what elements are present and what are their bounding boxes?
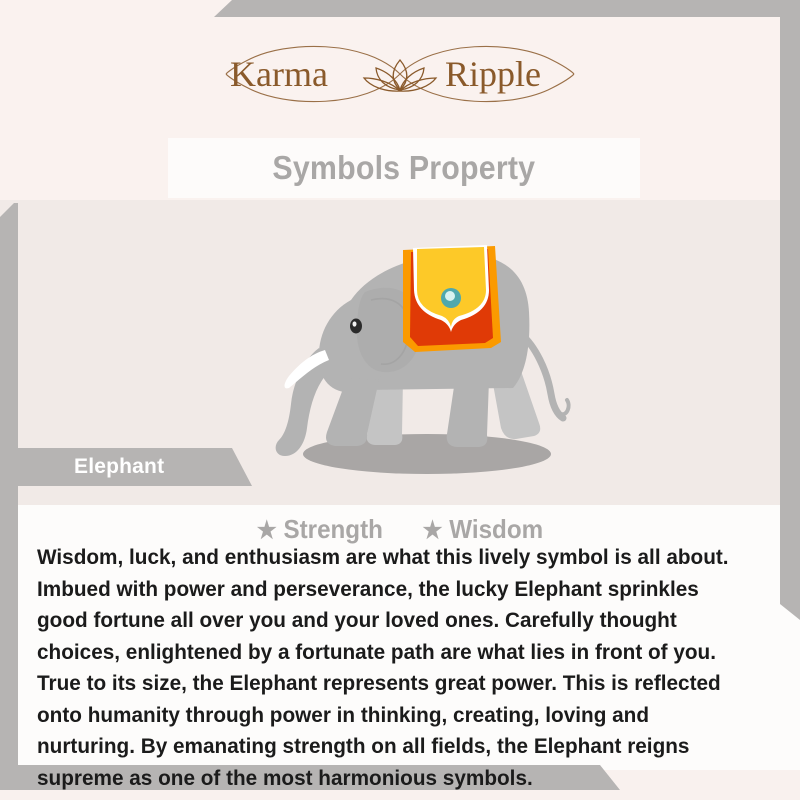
elephant-illustration — [255, 228, 585, 478]
page-title: Symbols Property — [273, 149, 536, 187]
symbol-description: Wisdom, luck, and enthusiasm are what th… — [37, 542, 751, 794]
elephant-eye — [350, 319, 362, 334]
decorative-bar-left — [0, 203, 18, 783]
page-title-band: Symbols Property — [168, 138, 640, 198]
symbol-name-banner: Elephant — [0, 448, 252, 486]
trait-strength-label: Strength — [284, 514, 383, 544]
star-icon: ★ — [257, 517, 277, 544]
symbol-card: Karma Ripple Symbols Property — [0, 0, 800, 800]
trait-wisdom: ★ Wisdom — [423, 514, 544, 545]
brand-name-left: Karma — [230, 54, 328, 94]
symbol-name: Elephant — [74, 455, 164, 479]
brand-logo: Karma Ripple — [0, 34, 800, 114]
trait-strength: ★ Strength — [257, 514, 383, 545]
trait-wisdom-label: Wisdom — [450, 514, 544, 544]
brand-name-right: Ripple — [445, 54, 541, 94]
star-icon: ★ — [423, 517, 443, 544]
lotus-icon: Karma Ripple — [190, 34, 610, 114]
symbol-traits: ★ Strength ★ Wisdom — [0, 514, 800, 545]
